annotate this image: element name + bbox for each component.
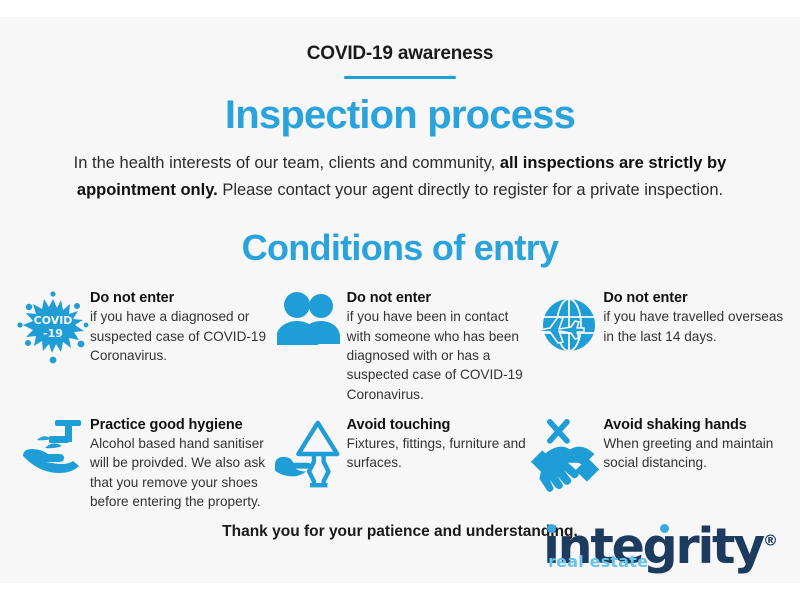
covid-icon-label-top: COVID bbox=[34, 314, 73, 327]
eyebrow-heading: COVID-19 awareness bbox=[0, 17, 800, 65]
heading-divider-wrap bbox=[0, 76, 800, 79]
handshake-crossed-icon bbox=[529, 416, 603, 496]
globe-airplane-icon bbox=[529, 289, 603, 369]
condition-title: Do not enter bbox=[347, 290, 530, 306]
two-people-icon bbox=[273, 289, 347, 369]
lamp-pointing-hand-icon bbox=[273, 416, 347, 496]
condition-body: Fixtures, fittings, furniture and surfac… bbox=[347, 434, 530, 473]
condition-text: Avoid shaking hands When greeting and ma… bbox=[603, 416, 786, 473]
condition-title: Do not enter bbox=[603, 290, 786, 306]
condition-title: Do not enter bbox=[90, 290, 273, 306]
conditions-row-1: COVID -19 Do not enter if you have a dia… bbox=[16, 289, 786, 403]
condition-item: Avoid shaking hands When greeting and ma… bbox=[529, 416, 786, 496]
condition-body: if you have been in contact with someone… bbox=[347, 307, 530, 403]
intro-text-1: In the health interests of our team, cli… bbox=[74, 154, 500, 172]
condition-text: Do not enter if you have a diagnosed or … bbox=[90, 289, 273, 365]
condition-title: Avoid shaking hands bbox=[603, 417, 786, 433]
condition-text: Practice good hygiene Alcohol based hand… bbox=[90, 416, 273, 511]
logo-dot-i-first bbox=[547, 524, 556, 533]
condition-text: Do not enter if you have been in contact… bbox=[347, 289, 530, 403]
covid-icon-label-bottom: -19 bbox=[43, 327, 63, 340]
condition-body: if you have a diagnosed or suspected cas… bbox=[90, 307, 273, 365]
logo-registered-mark: ® bbox=[763, 532, 778, 550]
cross-mark bbox=[550, 422, 567, 441]
condition-item: Do not enter if you have travelled overs… bbox=[529, 289, 786, 369]
logo-wordmark: integrity® real estate bbox=[543, 522, 778, 571]
conditions-grid: COVID -19 Do not enter if you have a dia… bbox=[0, 289, 800, 511]
logo-dot-i-second bbox=[660, 524, 669, 533]
condition-item: Do not enter if you have been in contact… bbox=[273, 289, 530, 403]
intro-paragraph: In the health interests of our team, cli… bbox=[50, 150, 750, 203]
condition-body: if you have travelled overseas in the la… bbox=[603, 307, 786, 346]
page-title: Inspection process bbox=[0, 94, 800, 136]
conditions-heading: Conditions of entry bbox=[0, 227, 800, 269]
condition-item: Practice good hygiene Alcohol based hand… bbox=[16, 416, 273, 511]
conditions-row-2: Practice good hygiene Alcohol based hand… bbox=[16, 416, 786, 511]
condition-body: Alcohol based hand sanitiser will be pro… bbox=[90, 434, 273, 511]
poster-canvas: COVID-19 awareness Inspection process In… bbox=[0, 17, 800, 583]
condition-body: When greeting and maintain social distan… bbox=[603, 434, 786, 473]
condition-title: Practice good hygiene bbox=[90, 417, 273, 433]
heading-divider bbox=[344, 76, 456, 79]
condition-item: COVID -19 Do not enter if you have a dia… bbox=[16, 289, 273, 369]
logo-tagline: real estate bbox=[548, 554, 648, 570]
condition-item: Avoid touching Fixtures, fittings, furni… bbox=[273, 416, 530, 496]
condition-text: Do not enter if you have travelled overs… bbox=[603, 289, 786, 346]
condition-text: Avoid touching Fixtures, fittings, furni… bbox=[347, 416, 530, 473]
intro-text-2: Please contact your agent directly to re… bbox=[218, 181, 723, 199]
condition-title: Avoid touching bbox=[347, 417, 530, 433]
integrity-logo: integrity® real estate bbox=[543, 522, 778, 571]
handwashing-tap-icon bbox=[16, 416, 90, 496]
covid-virus-icon: COVID -19 bbox=[16, 289, 90, 369]
